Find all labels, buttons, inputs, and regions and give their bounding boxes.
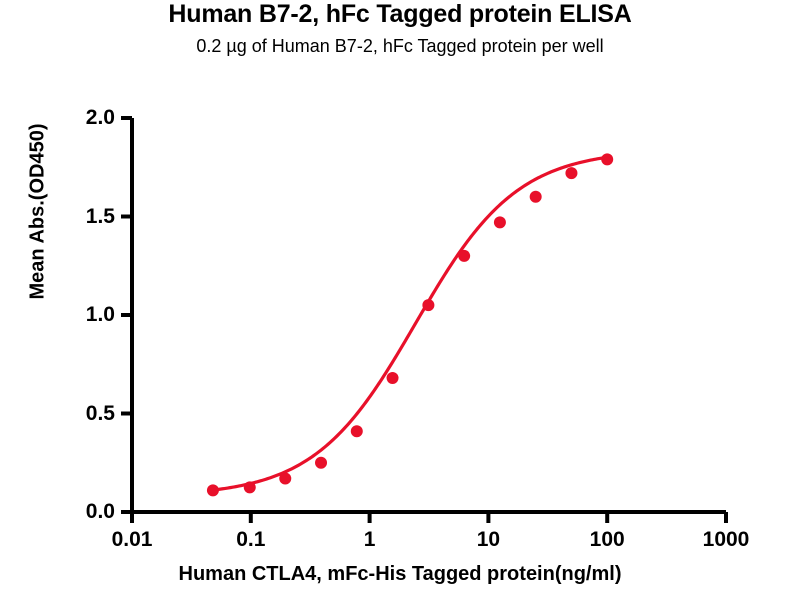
y-tick-label: 0.0 <box>45 500 115 524</box>
y-tick-label: 1.0 <box>45 303 115 327</box>
fit-curve <box>213 157 607 490</box>
y-tick-label: 2.0 <box>45 106 115 130</box>
plot-area <box>0 0 800 600</box>
y-tick-label: 1.5 <box>45 205 115 229</box>
x-tick-label: 0.01 <box>72 528 192 552</box>
x-tick-label: 1 <box>310 528 430 552</box>
plot-svg <box>0 0 800 600</box>
data-point <box>315 457 327 469</box>
data-point <box>387 372 399 384</box>
x-tick-label: 1000 <box>666 528 786 552</box>
data-point <box>351 425 363 437</box>
data-point <box>279 473 291 485</box>
data-point <box>458 250 470 262</box>
data-point <box>565 167 577 179</box>
data-point <box>601 153 613 165</box>
y-tick-label: 0.5 <box>45 402 115 426</box>
x-tick-label: 0.1 <box>191 528 311 552</box>
axes <box>121 118 726 523</box>
data-point <box>422 299 434 311</box>
data-point <box>244 481 256 493</box>
data-point <box>494 216 506 228</box>
x-tick-label: 10 <box>428 528 548 552</box>
data-point <box>530 191 542 203</box>
data-points <box>207 153 613 496</box>
chart-canvas: Human B7-2, hFc Tagged protein ELISA 0.2… <box>0 0 800 600</box>
x-tick-label: 100 <box>547 528 667 552</box>
data-point <box>207 484 219 496</box>
